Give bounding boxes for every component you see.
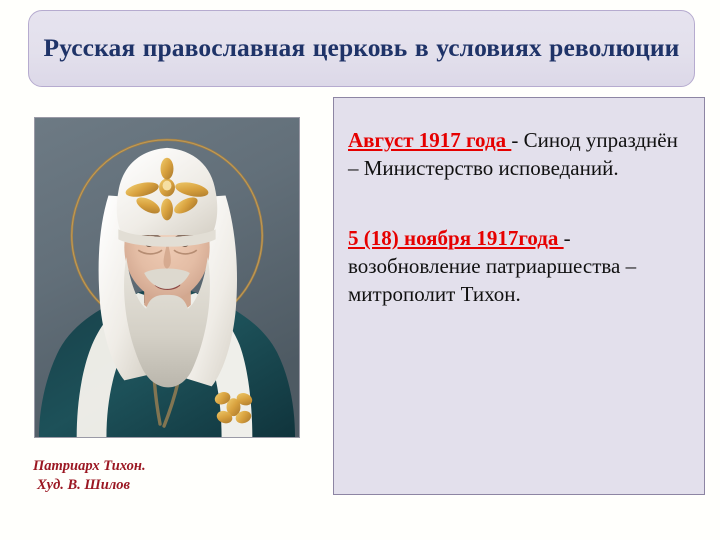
lead-november-1917: 5 (18) ноября 1917года	[348, 226, 564, 250]
portrait-patriarch-tikhon	[34, 117, 300, 438]
page-title: Русская православная церковь в условиях …	[44, 33, 680, 63]
slide-title-banner: Русская православная церковь в условиях …	[28, 10, 695, 87]
content-text-panel: Август 1917 года - Синод упразднён – Мин…	[333, 97, 705, 495]
portrait-caption: Патриарх Тихон. Худ. В. Шилов	[33, 457, 323, 496]
paragraph-november-1917: 5 (18) ноября 1917года - возобновление п…	[348, 225, 692, 309]
caption-line-1: Патриарх Тихон.	[33, 458, 146, 474]
lead-august-1917: Август 1917 года	[348, 128, 511, 152]
portrait-illustration	[35, 118, 299, 437]
paragraph-august-1917: Август 1917 года - Синод упразднён – Мин…	[348, 127, 692, 183]
caption-line-2: Худ. В. Шилов	[33, 476, 323, 495]
